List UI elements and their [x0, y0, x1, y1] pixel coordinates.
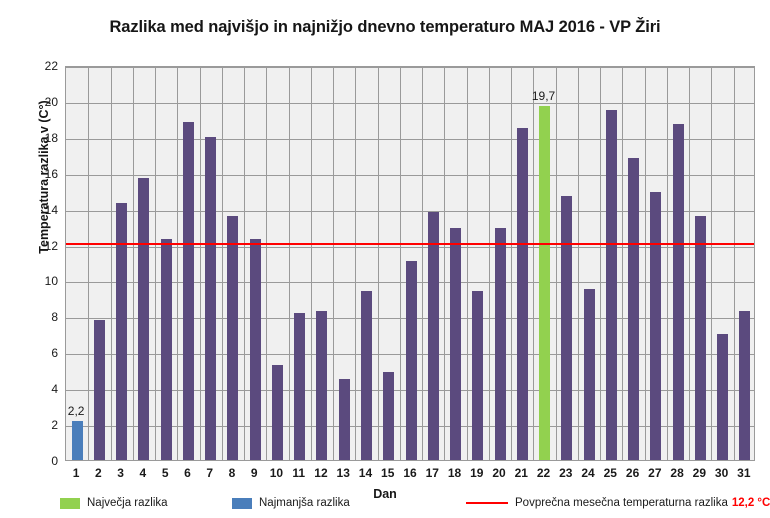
bar [673, 124, 684, 460]
legend-item: Povprečna mesečna temperaturna razlika12… [466, 497, 770, 509]
bar [383, 372, 394, 460]
gridline-vertical [311, 67, 312, 460]
bar [294, 313, 305, 460]
gridline-horizontal [66, 67, 754, 68]
gridline-horizontal [66, 103, 754, 104]
y-tick-label: 10 [18, 274, 58, 288]
gridline-vertical [133, 67, 134, 460]
bar [161, 239, 172, 460]
gridline-vertical [244, 67, 245, 460]
gridline-vertical [266, 67, 267, 460]
bar [116, 203, 127, 460]
gridline-vertical [533, 67, 534, 460]
y-tick-label: 2 [18, 418, 58, 432]
bar-value-label: 19,7 [522, 89, 566, 103]
bar [539, 106, 550, 460]
bar [628, 158, 639, 460]
bar [584, 289, 595, 460]
bar [428, 212, 439, 460]
legend-color-swatch [232, 498, 252, 509]
bar [272, 365, 283, 460]
plot-area [65, 66, 755, 461]
bar [72, 421, 83, 461]
y-tick-label: 16 [18, 167, 58, 181]
gridline-vertical [600, 67, 601, 460]
y-tick-label: 22 [18, 59, 58, 73]
chart-legend: Največja razlikaNajmanjša razlikaPovpreč… [0, 497, 770, 517]
y-tick-label: 18 [18, 131, 58, 145]
bar [94, 320, 105, 460]
bar-value-label: 2,2 [54, 404, 98, 418]
legend-label: Povprečna mesečna temperaturna razlika [515, 497, 728, 509]
bar [339, 379, 350, 460]
gridline-vertical [378, 67, 379, 460]
bar [717, 334, 728, 460]
bar [316, 311, 327, 460]
legend-item: Največja razlika [60, 497, 168, 509]
bar [517, 128, 528, 460]
average-reference-line [66, 243, 754, 245]
gridline-vertical [489, 67, 490, 460]
gridline-horizontal [66, 175, 754, 176]
bar [561, 196, 572, 460]
gridline-vertical [400, 67, 401, 460]
gridline-vertical [111, 67, 112, 460]
bar [406, 261, 417, 460]
legend-line-marker [466, 502, 508, 504]
bar [472, 291, 483, 460]
gridline-vertical [578, 67, 579, 460]
bar [650, 192, 661, 460]
legend-label: Največja razlika [87, 497, 168, 509]
gridline-vertical [667, 67, 668, 460]
gridline-horizontal [66, 139, 754, 140]
gridline-vertical [689, 67, 690, 460]
chart-title: Razlika med najvišjo in najnižjo dnevno … [0, 18, 770, 37]
bar [361, 291, 372, 460]
gridline-vertical [177, 67, 178, 460]
bar [250, 239, 261, 460]
y-tick-label: 4 [18, 382, 58, 396]
gridline-vertical [444, 67, 445, 460]
gridline-vertical [556, 67, 557, 460]
y-tick-label: 14 [18, 203, 58, 217]
bar [695, 216, 706, 460]
bar [138, 178, 149, 460]
gridline-vertical [155, 67, 156, 460]
bar [606, 110, 617, 460]
gridline-vertical [711, 67, 712, 460]
legend-color-swatch [60, 498, 80, 509]
gridline-vertical [511, 67, 512, 460]
y-tick-label: 6 [18, 346, 58, 360]
gridline-vertical [289, 67, 290, 460]
gridline-vertical [333, 67, 334, 460]
chart-container: Razlika med najvišjo in najnižjo dnevno … [0, 0, 770, 518]
bar [495, 228, 506, 460]
y-tick-label: 0 [18, 454, 58, 468]
gridline-vertical [88, 67, 89, 460]
bar [183, 122, 194, 460]
x-tick-label: 31 [724, 466, 764, 480]
bar [450, 228, 461, 460]
gridline-vertical [734, 67, 735, 460]
legend-item: Najmanjša razlika [232, 497, 350, 509]
gridline-vertical [422, 67, 423, 460]
legend-label: Najmanjša razlika [259, 497, 350, 509]
gridline-vertical [467, 67, 468, 460]
bar [205, 137, 216, 460]
gridline-vertical [622, 67, 623, 460]
bar [739, 311, 750, 460]
gridline-vertical [645, 67, 646, 460]
y-tick-label: 8 [18, 310, 58, 324]
gridline-vertical [200, 67, 201, 460]
y-tick-label: 12 [18, 239, 58, 253]
gridline-vertical [355, 67, 356, 460]
gridline-vertical [222, 67, 223, 460]
y-tick-label: 20 [18, 95, 58, 109]
bar [227, 216, 238, 460]
legend-average-value: 12,2 °C [732, 497, 770, 509]
